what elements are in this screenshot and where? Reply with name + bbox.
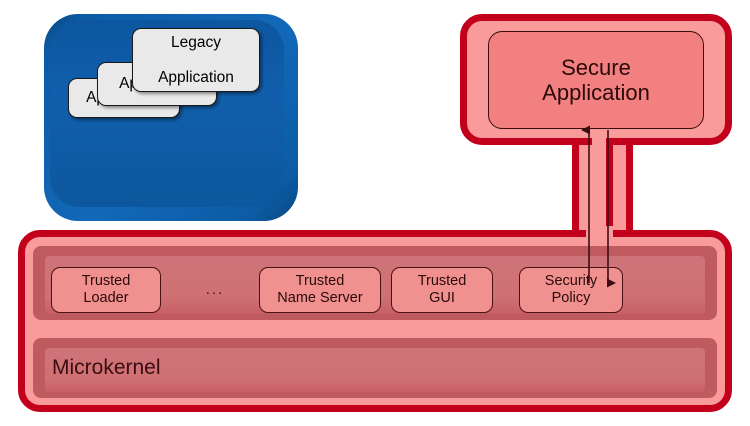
legacy-application-card-front[interactable]: LegacyApplication — [132, 28, 260, 92]
microkernel-label: Microkernel — [52, 356, 161, 380]
security-policy-box[interactable]: SecurityPolicy — [519, 267, 623, 313]
trusted-loader-box[interactable]: TrustedLoader — [51, 267, 161, 313]
trusted-name-server-label: TrustedName Server — [277, 273, 362, 306]
security-policy-label: SecurityPolicy — [545, 273, 597, 306]
services-ellipsis: ... — [195, 281, 235, 298]
neck-gap-patch — [586, 226, 613, 244]
trusted-gui-box[interactable]: TrustedGUI — [391, 267, 493, 313]
secure-application-box[interactable]: SecureApplication — [488, 31, 704, 129]
trusted-gui-label: TrustedGUI — [418, 273, 467, 306]
legacy-application-card-front-label: LegacyApplication — [150, 34, 242, 86]
trusted-name-server-box[interactable]: TrustedName Server — [259, 267, 381, 313]
secure-application-label: SecureApplication — [542, 55, 650, 106]
architecture-diagram: Application Application LegacyApplicatio… — [0, 0, 750, 426]
trusted-loader-label: TrustedLoader — [82, 273, 131, 306]
